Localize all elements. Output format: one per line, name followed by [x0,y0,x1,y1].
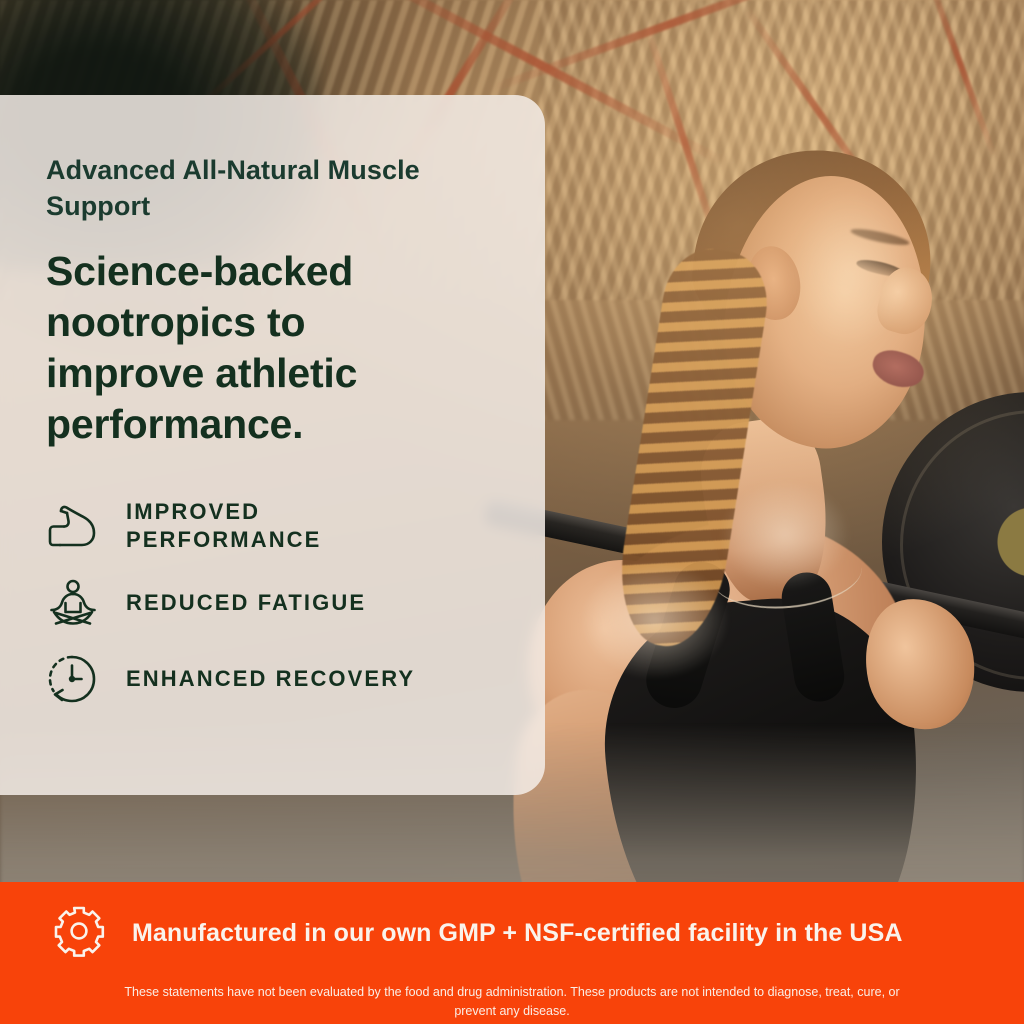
clock-recovery-icon [46,652,100,706]
benefit-item-improved-performance: IMPROVED PERFORMANCE [46,498,499,554]
promo-graphic: Advanced All-Natural Muscle Support Scie… [0,0,1024,1024]
footer-headline-text: Manufactured in our own GMP + NSF-certif… [132,919,903,948]
card-headline: Science-backed nootropics to improve ath… [46,246,426,449]
benefit-label: REDUCED FATIGUE [126,589,366,617]
benefit-item-enhanced-recovery: ENHANCED RECOVERY [46,652,499,706]
footer-headline-row: Manufactured in our own GMP + NSF-certif… [0,904,1024,963]
benefit-list: IMPROVED PERFORMANCE REDUCED FATIGUE [46,498,499,706]
skin-highlight [720,480,850,590]
fda-disclaimer: These statements have not been evaluated… [117,983,907,1021]
flexed-bicep-icon [46,499,100,553]
benefit-item-reduced-fatigue: REDUCED FATIGUE [46,576,499,630]
skin-highlight [580,560,730,680]
content-card: Advanced All-Natural Muscle Support Scie… [0,95,545,795]
benefit-label: ENHANCED RECOVERY [126,665,415,693]
gear-icon [52,904,106,963]
skin-highlight [790,196,910,346]
card-eyebrow: Advanced All-Natural Muscle Support [46,153,426,224]
certification-footer: Manufactured in our own GMP + NSF-certif… [0,882,1024,1024]
meditation-lotus-icon [46,576,100,630]
benefit-label: IMPROVED PERFORMANCE [126,498,321,554]
